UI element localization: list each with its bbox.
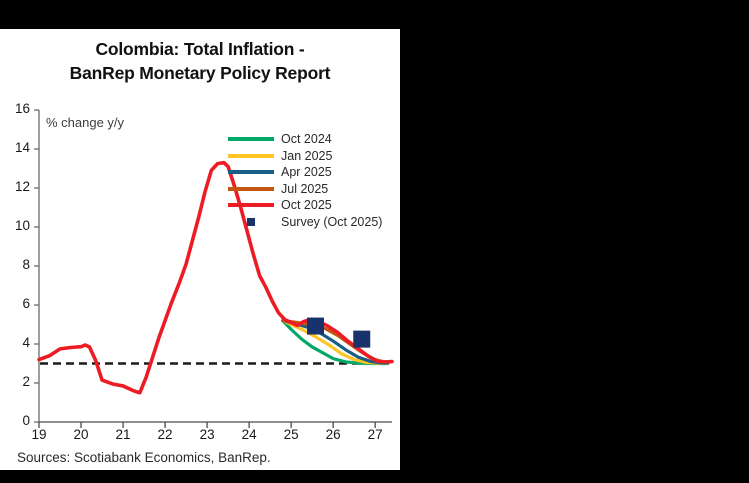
survey-marker [353,331,370,348]
legend-item-label: Oct 2025 [281,198,332,212]
y-axis-tick-label: 12 [0,179,30,194]
y-axis-tick-label: 14 [0,140,30,155]
square-marker-icon [247,218,255,226]
x-axis-tick-label: 22 [150,427,180,442]
y-axis-tick-label: 6 [0,296,30,311]
x-axis-tick-label: 26 [318,427,348,442]
x-axis-tick-label: 25 [276,427,306,442]
y-axis-tick-label: 10 [0,218,30,233]
x-axis-tick-label: 27 [360,427,390,442]
sources-note: Sources: Scotiabank Economics, BanRep. [17,450,271,465]
chart-plot-area [0,29,400,470]
legend-item[interactable]: Apr 2025 [228,164,393,181]
legend-item[interactable]: Jan 2025 [228,148,393,165]
x-axis-tick-label: 23 [192,427,222,442]
legend-line-swatch [228,137,274,141]
legend-item[interactable]: Jul 2025 [228,181,393,198]
legend-item-label: Oct 2024 [281,132,332,146]
legend-item-label: Survey (Oct 2025) [281,215,382,229]
x-axis-tick-label: 21 [108,427,138,442]
y-axis-tick-label: 2 [0,374,30,389]
y-axis-tick-label: 4 [0,335,30,350]
legend-item-label: Apr 2025 [281,165,332,179]
y-axis-tick-label: 8 [0,257,30,272]
legend-item-label: Jan 2025 [281,149,332,163]
legend-line-swatch [228,170,274,174]
x-axis-tick-label: 19 [24,427,54,442]
legend-item[interactable]: Oct 2024 [228,131,393,148]
legend-item[interactable]: Survey (Oct 2025) [228,214,393,231]
y-axis-tick-label: 16 [0,101,30,116]
legend-item[interactable]: Oct 2025 [228,197,393,214]
legend-line-swatch [228,203,274,207]
survey-marker [307,318,324,335]
chart-legend: Oct 2024Jan 2025Apr 2025Jul 2025Oct 2025… [228,131,393,230]
legend-item-label: Jul 2025 [281,182,328,196]
x-axis-tick-label: 20 [66,427,96,442]
legend-marker-swatch [228,218,274,226]
x-axis-tick-label: 24 [234,427,264,442]
chart-panel: Colombia: Total Inflation - BanRep Monet… [0,29,400,470]
y-axis-tick-label: 0 [0,413,30,428]
legend-line-swatch [228,154,274,158]
legend-line-swatch [228,187,274,191]
